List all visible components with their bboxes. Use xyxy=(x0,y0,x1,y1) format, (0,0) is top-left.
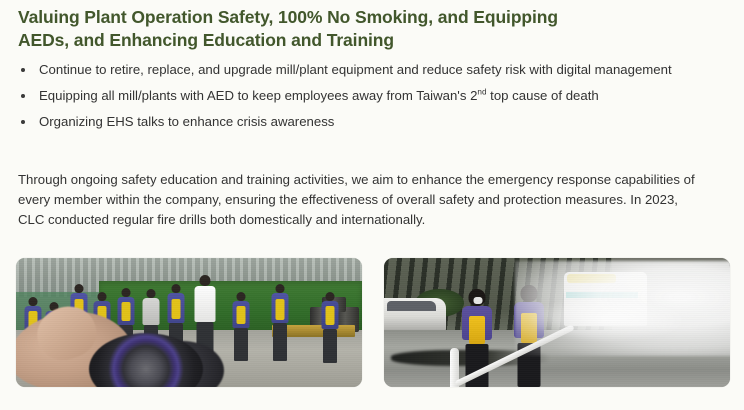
bullet-dot-icon xyxy=(21,120,25,124)
photo2-water-spray-core xyxy=(529,297,688,341)
bullet-text-3: Organizing EHS talks to enhance crisis a… xyxy=(39,114,334,129)
bullet-text-2: Equipping all mill/plants with AED to ke… xyxy=(39,88,599,103)
list-item: Organizing EHS talks to enhance crisis a… xyxy=(18,112,730,132)
page-title-line-2: AEDs, and Enhancing Education and Traini… xyxy=(18,29,718,52)
safety-section-page: Valuing Plant Operation Safety, 100% No … xyxy=(0,0,744,410)
photo1-person xyxy=(320,292,340,375)
photo2-car-window xyxy=(387,301,435,311)
bullet-text-2-after: top cause of death xyxy=(487,88,599,103)
bullet-text-2-before: Equipping all mill/plants with AED to ke… xyxy=(39,88,477,103)
photo1-person xyxy=(269,284,291,374)
bullet-dot-icon xyxy=(21,94,25,98)
photo1-person xyxy=(231,292,251,372)
page-title-line-1: Valuing Plant Operation Safety, 100% No … xyxy=(18,6,718,29)
fire-hose-drill-photo: Two employees in blue shirts and yellow … xyxy=(384,258,730,387)
list-item: Continue to retire, replace, and upgrade… xyxy=(18,60,730,80)
photo-row: Employees in blue and yellow uniforms ru… xyxy=(16,258,730,387)
list-item: Equipping all mill/plants with AED to ke… xyxy=(18,86,730,106)
bullet-text-1: Continue to retire, replace, and upgrade… xyxy=(39,62,672,77)
bullet-dot-icon xyxy=(21,68,25,72)
page-title: Valuing Plant Operation Safety, 100% No … xyxy=(18,6,718,52)
evacuation-drill-photo: Employees in blue and yellow uniforms ru… xyxy=(16,258,362,387)
bullet-text-2-superscript: nd xyxy=(477,88,486,97)
body-paragraph: Through ongoing safety education and tra… xyxy=(18,170,708,229)
bullet-list: Continue to retire, replace, and upgrade… xyxy=(18,60,730,138)
